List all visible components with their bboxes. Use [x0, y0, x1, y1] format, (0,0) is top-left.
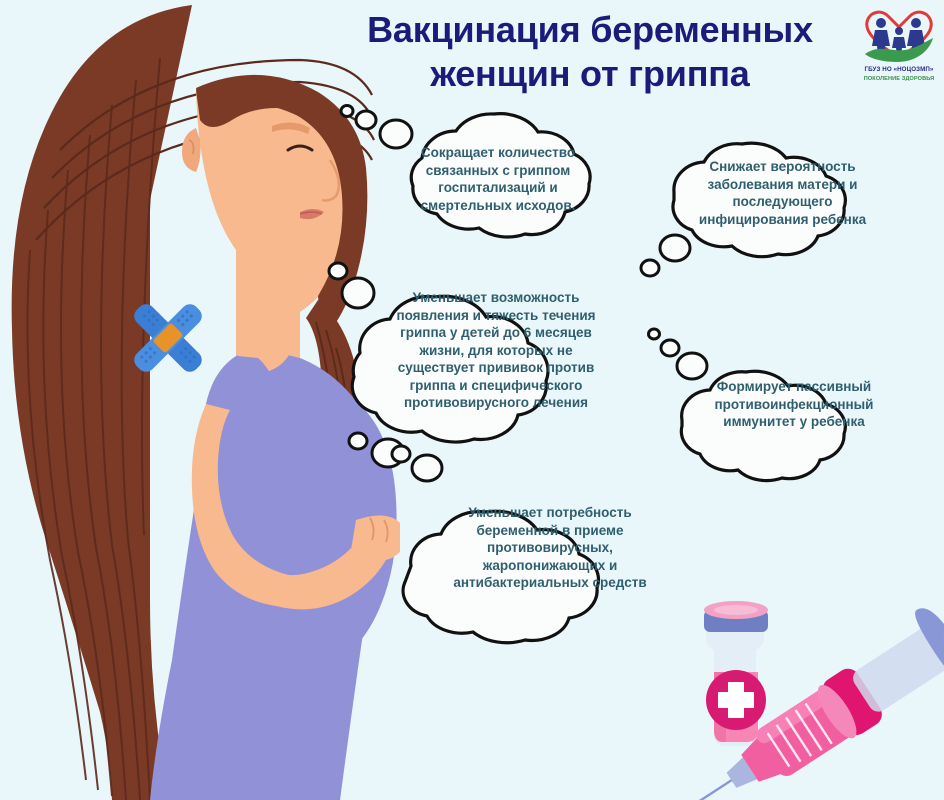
needle	[693, 780, 732, 800]
ear	[182, 128, 201, 172]
title-line-1: Вакцинация беременных	[330, 8, 850, 52]
bubble-text: Формирует пассивный противоинфекционный …	[690, 378, 898, 431]
thought-dots	[649, 329, 708, 379]
bubble-text: Сокращает количество связанных с гриппом…	[400, 144, 596, 214]
bubble-reduces-medication-need: Уменьшает потребность беременной в прием…	[385, 450, 715, 650]
nocozmp-logo: ГБУЗ НО «НОЦОЗМП» ПОКОЛЕНИЕ ЗДОРОВЬЯ	[857, 6, 941, 94]
vaccine-vial-icon	[704, 601, 768, 746]
logo-caption-2: ПОКОЛЕНИЕ ЗДОРОВЬЯ	[857, 76, 941, 82]
thought-dots	[392, 446, 442, 481]
bubble-text: Снижает вероятность заболевания матери и…	[670, 158, 895, 228]
infographic-poster: Вакцинация беременных женщин от гриппа Г…	[0, 0, 944, 800]
bubble-text: Уменьшает потребность беременной в прием…	[425, 504, 675, 592]
bubble-reduces-mother-illness: Снижает вероятность заболевания матери и…	[630, 118, 940, 288]
bubble-reduces-infant-severity: Уменьшает возможность появления и тяжест…	[330, 255, 660, 480]
title-line-2: женщин от гриппа	[330, 52, 850, 96]
page-title: Вакцинация беременных женщин от гриппа	[330, 8, 850, 96]
bubble-reduces-hospitalizations: Сокращает количество связанных с гриппом…	[330, 100, 660, 270]
logo-caption-1: ГБУЗ НО «НОЦОЗМП»	[857, 66, 941, 73]
syringe-and-vaccine-vial-illustration	[672, 588, 944, 800]
thought-dots	[341, 106, 412, 149]
bubble-text: Уменьшает возможность появления и тяжест…	[372, 289, 620, 412]
logo-mark	[857, 6, 941, 66]
